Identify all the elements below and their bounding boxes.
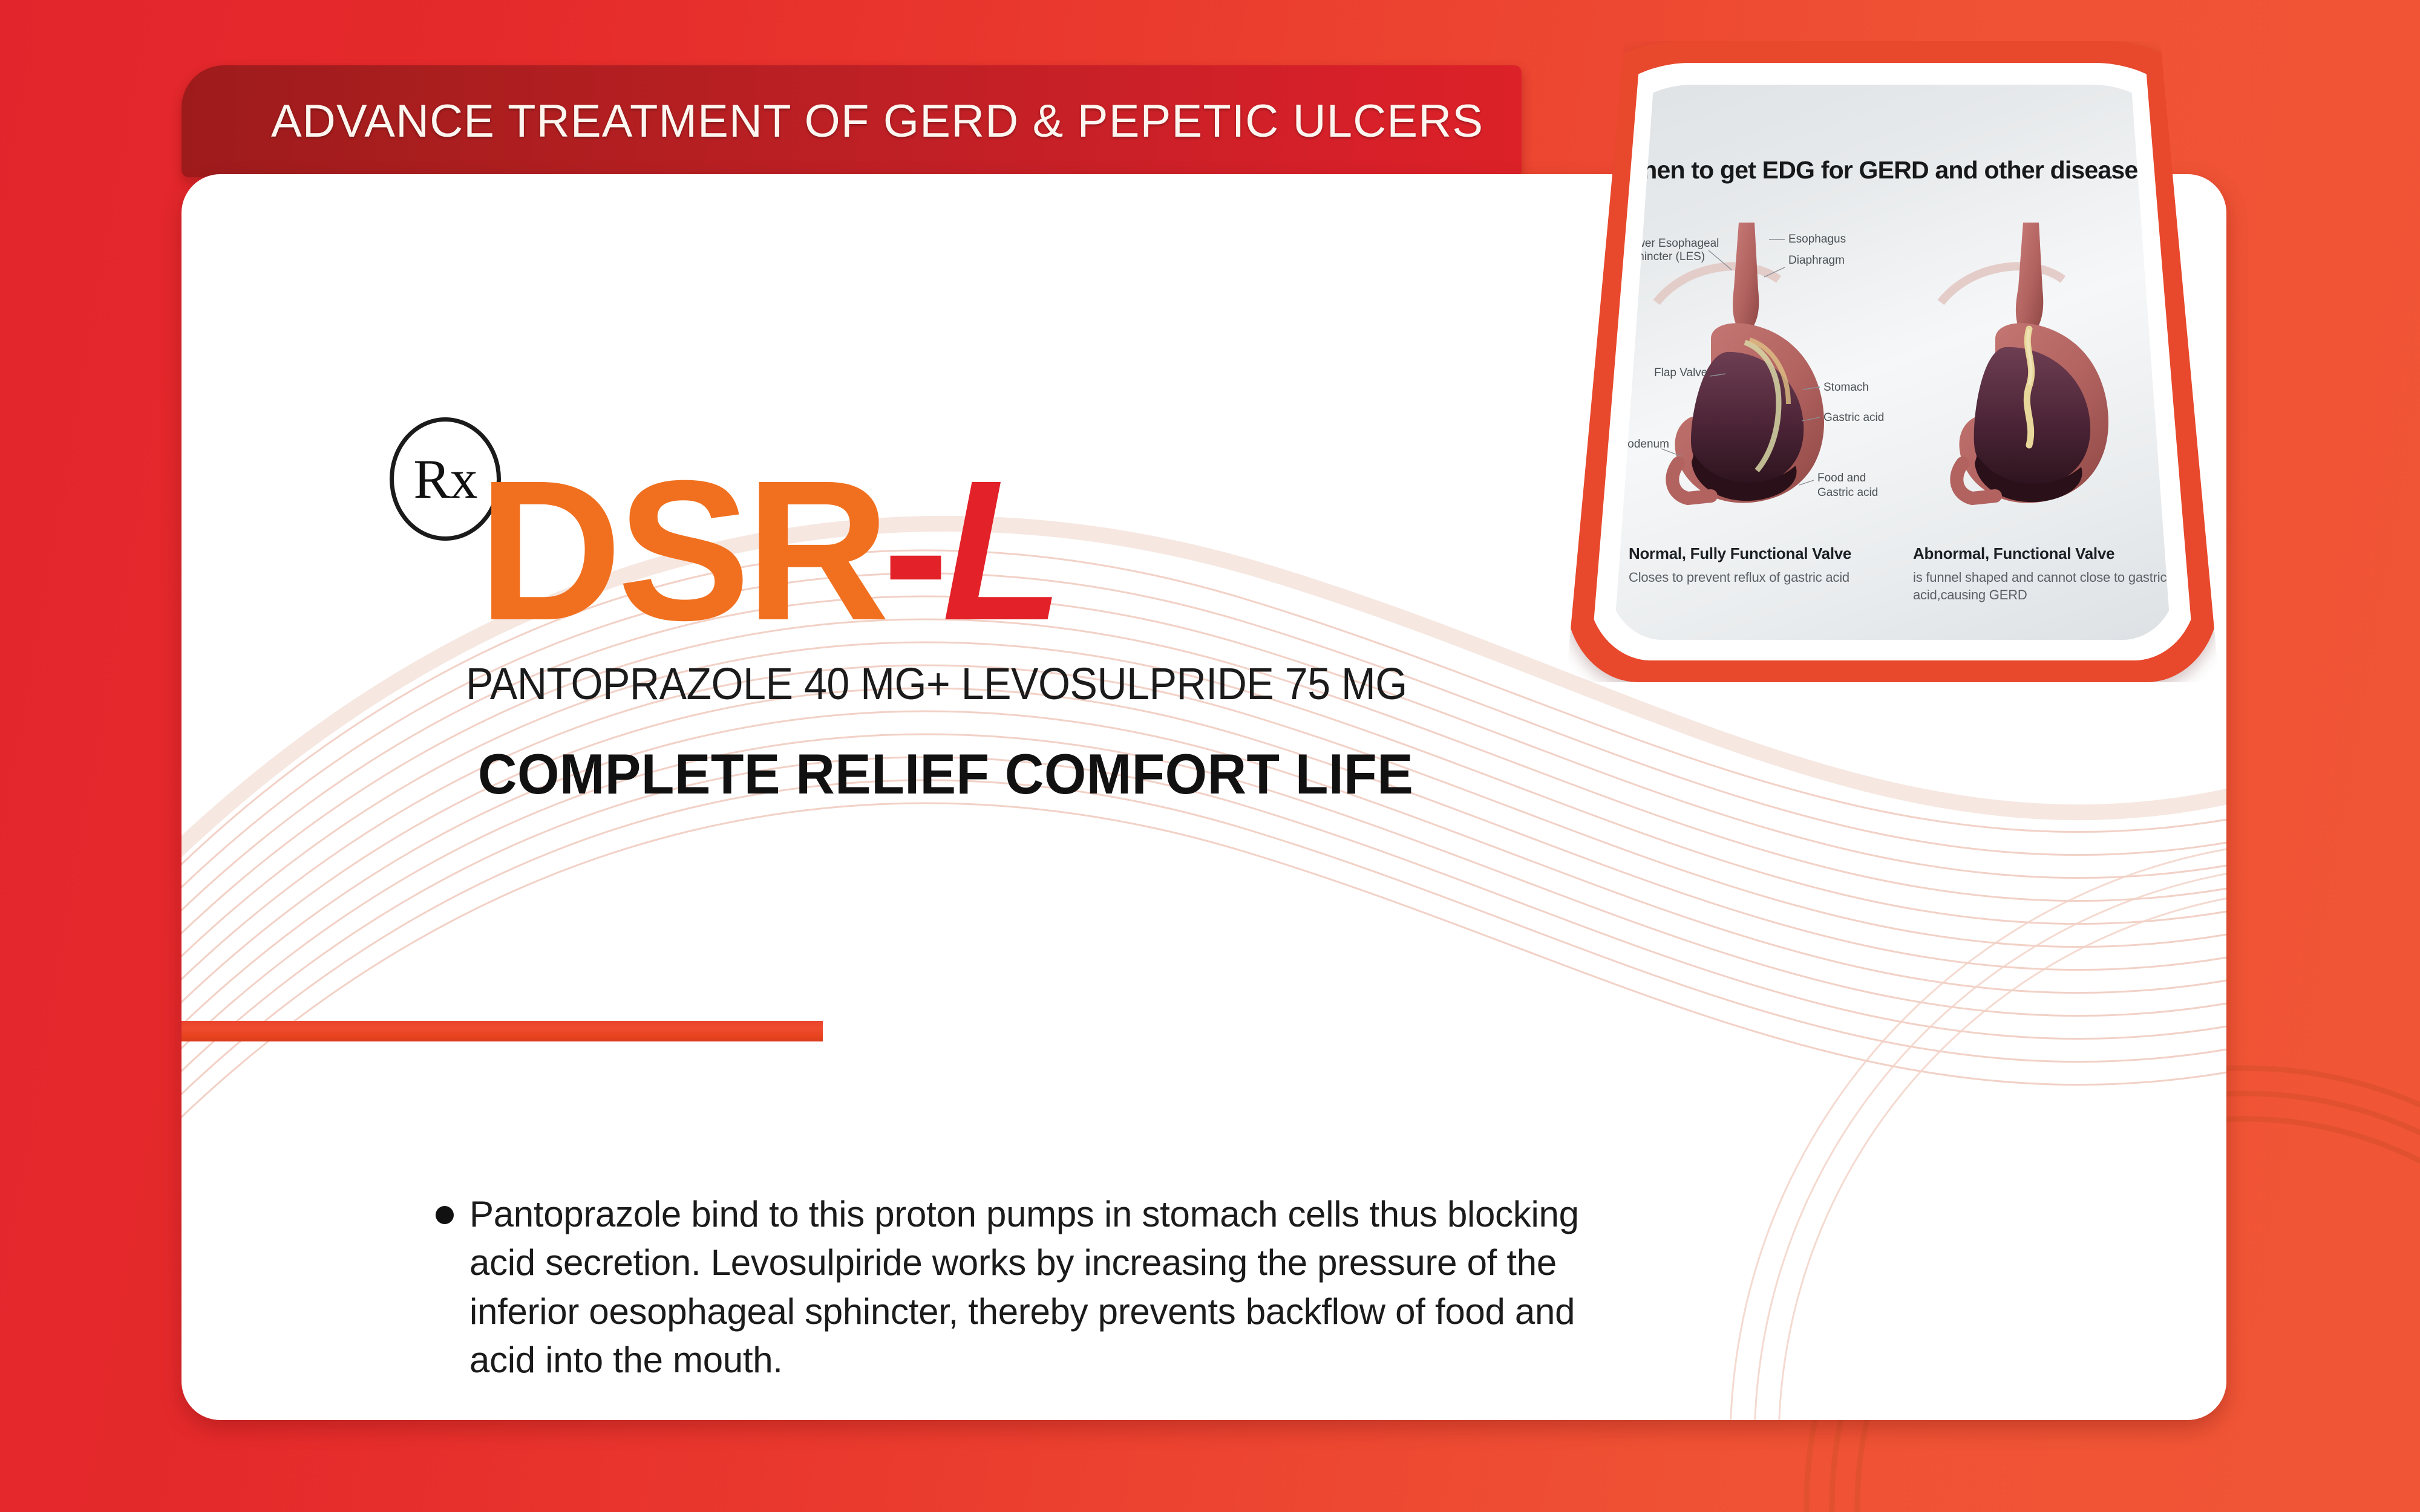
poster-root: ADVANCE TREATMENT OF GERD & PEPETIC ULCE… xyxy=(0,0,2420,1512)
caption-normal-subtitle: Closes to prevent reflux of gastric acid xyxy=(1629,569,1883,586)
composition-line: PANTOPRAZOLE 40 MG+ LEVOSULPRIDE 75 MG xyxy=(466,658,1407,709)
brand-name-primary: DSR xyxy=(478,464,885,636)
label-stomach: Stomach xyxy=(1823,381,1869,394)
label-esophagus: Esophagus xyxy=(1788,233,1846,246)
caption-normal: Normal, Fully Functional Valve Closes to… xyxy=(1618,544,1883,604)
stomach-diagram-group: Esophagus Lower Esophageal Sphincter (LE… xyxy=(1608,212,2177,550)
stomach-diagram-abnormal xyxy=(1905,212,2165,550)
product-tagline: COMPLETE RELIEF COMFORT LIFE xyxy=(478,741,1413,807)
brand-wordmark: DSR - L xyxy=(478,464,1060,636)
banner-title: ADVANCE TREATMENT OF GERD & PEPETIC ULCE… xyxy=(181,95,1483,148)
caption-abnormal-title: Abnormal, Functional Valve xyxy=(1913,544,2167,563)
rx-symbol-label: Rx xyxy=(413,451,477,507)
label-food-line2: Gastric acid xyxy=(1817,486,1878,499)
stomach-diagram-normal: Esophagus Lower Esophageal Sphincter (LE… xyxy=(1620,212,1880,550)
caption-normal-title: Normal, Fully Functional Valve xyxy=(1629,544,1883,563)
caption-abnormal-subtitle: is funnel shaped and cannot close to gas… xyxy=(1913,569,2167,604)
label-diaphragm: Diaphragm xyxy=(1788,254,1845,267)
mechanism-bullet-item: Pantoprazole bind to this proton pumps i… xyxy=(436,1190,1646,1385)
header-banner: ADVANCE TREATMENT OF GERD & PEPETIC ULCE… xyxy=(181,65,1522,177)
label-gastric-acid: Gastric acid xyxy=(1823,411,1884,424)
diagram-captions: Normal, Fully Functional Valve Closes to… xyxy=(1608,544,2177,604)
panel-inner-surface: When to get EDG for GERD and other disea… xyxy=(1608,85,2177,640)
label-flap-valve: Flap Valve xyxy=(1654,367,1707,379)
caption-abnormal: Abnormal, Functional Valve is funnel sha… xyxy=(1902,544,2167,604)
orange-divider-bar xyxy=(181,1021,823,1041)
brand-name-dash: - xyxy=(883,464,947,636)
bullet-dot-icon xyxy=(436,1206,454,1224)
medical-panel-title: When to get EDG for GERD and other disea… xyxy=(1608,156,2177,184)
mechanism-text: Pantoprazole bind to this proton pumps i… xyxy=(469,1190,1646,1385)
brand-name-suffix: L xyxy=(942,464,1061,636)
label-food-line1: Food and xyxy=(1817,472,1866,484)
medical-illustration-panel: When to get EDG for GERD and other disea… xyxy=(1566,41,2219,682)
